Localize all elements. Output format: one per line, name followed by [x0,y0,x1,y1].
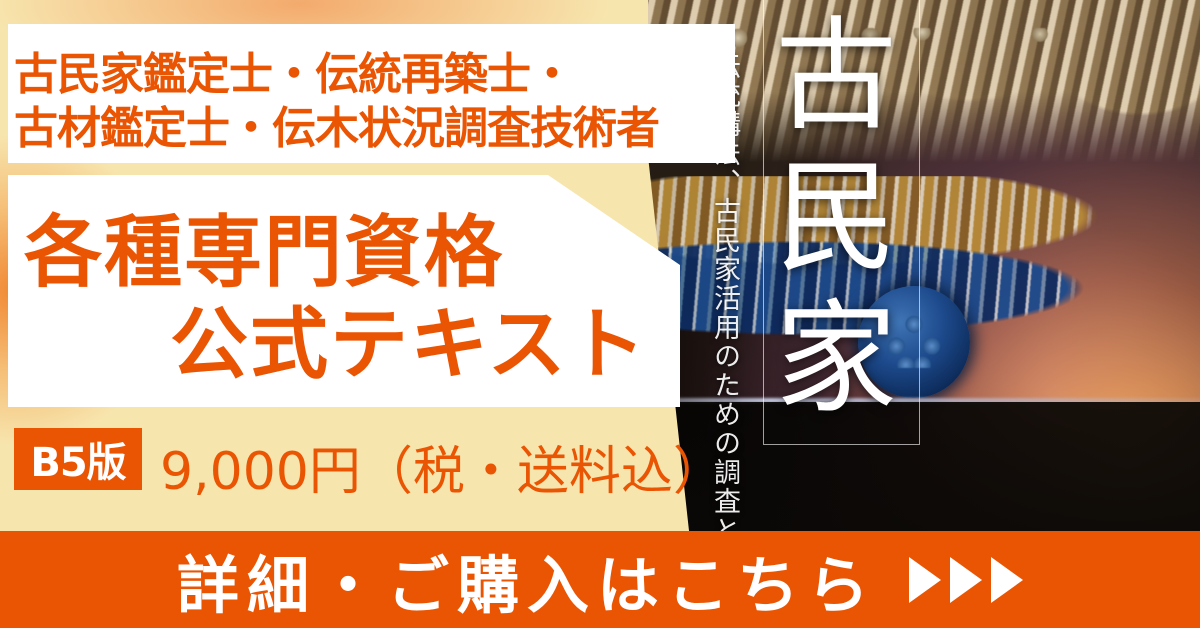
cta-label: 詳細・ご購入はこちら [177,535,877,625]
price-text: 9,000円（税・送料込） [160,429,725,504]
cover-title-text: 古 民 家 [762,6,910,436]
headline-line-2: 古材鑑定士・伝木状況調査技術者 [14,92,659,156]
promo-banner: 古 民 家 伝統構法、古民家活用のための調査と再生の 古民家鑑定士・伝統再築士・… [0,0,1200,628]
size-badge: B5版 [14,428,142,490]
cta-arrows [909,557,1023,603]
triangle-right-icon [950,557,982,603]
triangle-right-icon [909,557,941,603]
cta-button[interactable]: 詳細・ご購入はこちら [0,531,1200,628]
main-title-line-2: 公式テキスト [170,282,648,394]
triangle-right-icon [991,557,1023,603]
